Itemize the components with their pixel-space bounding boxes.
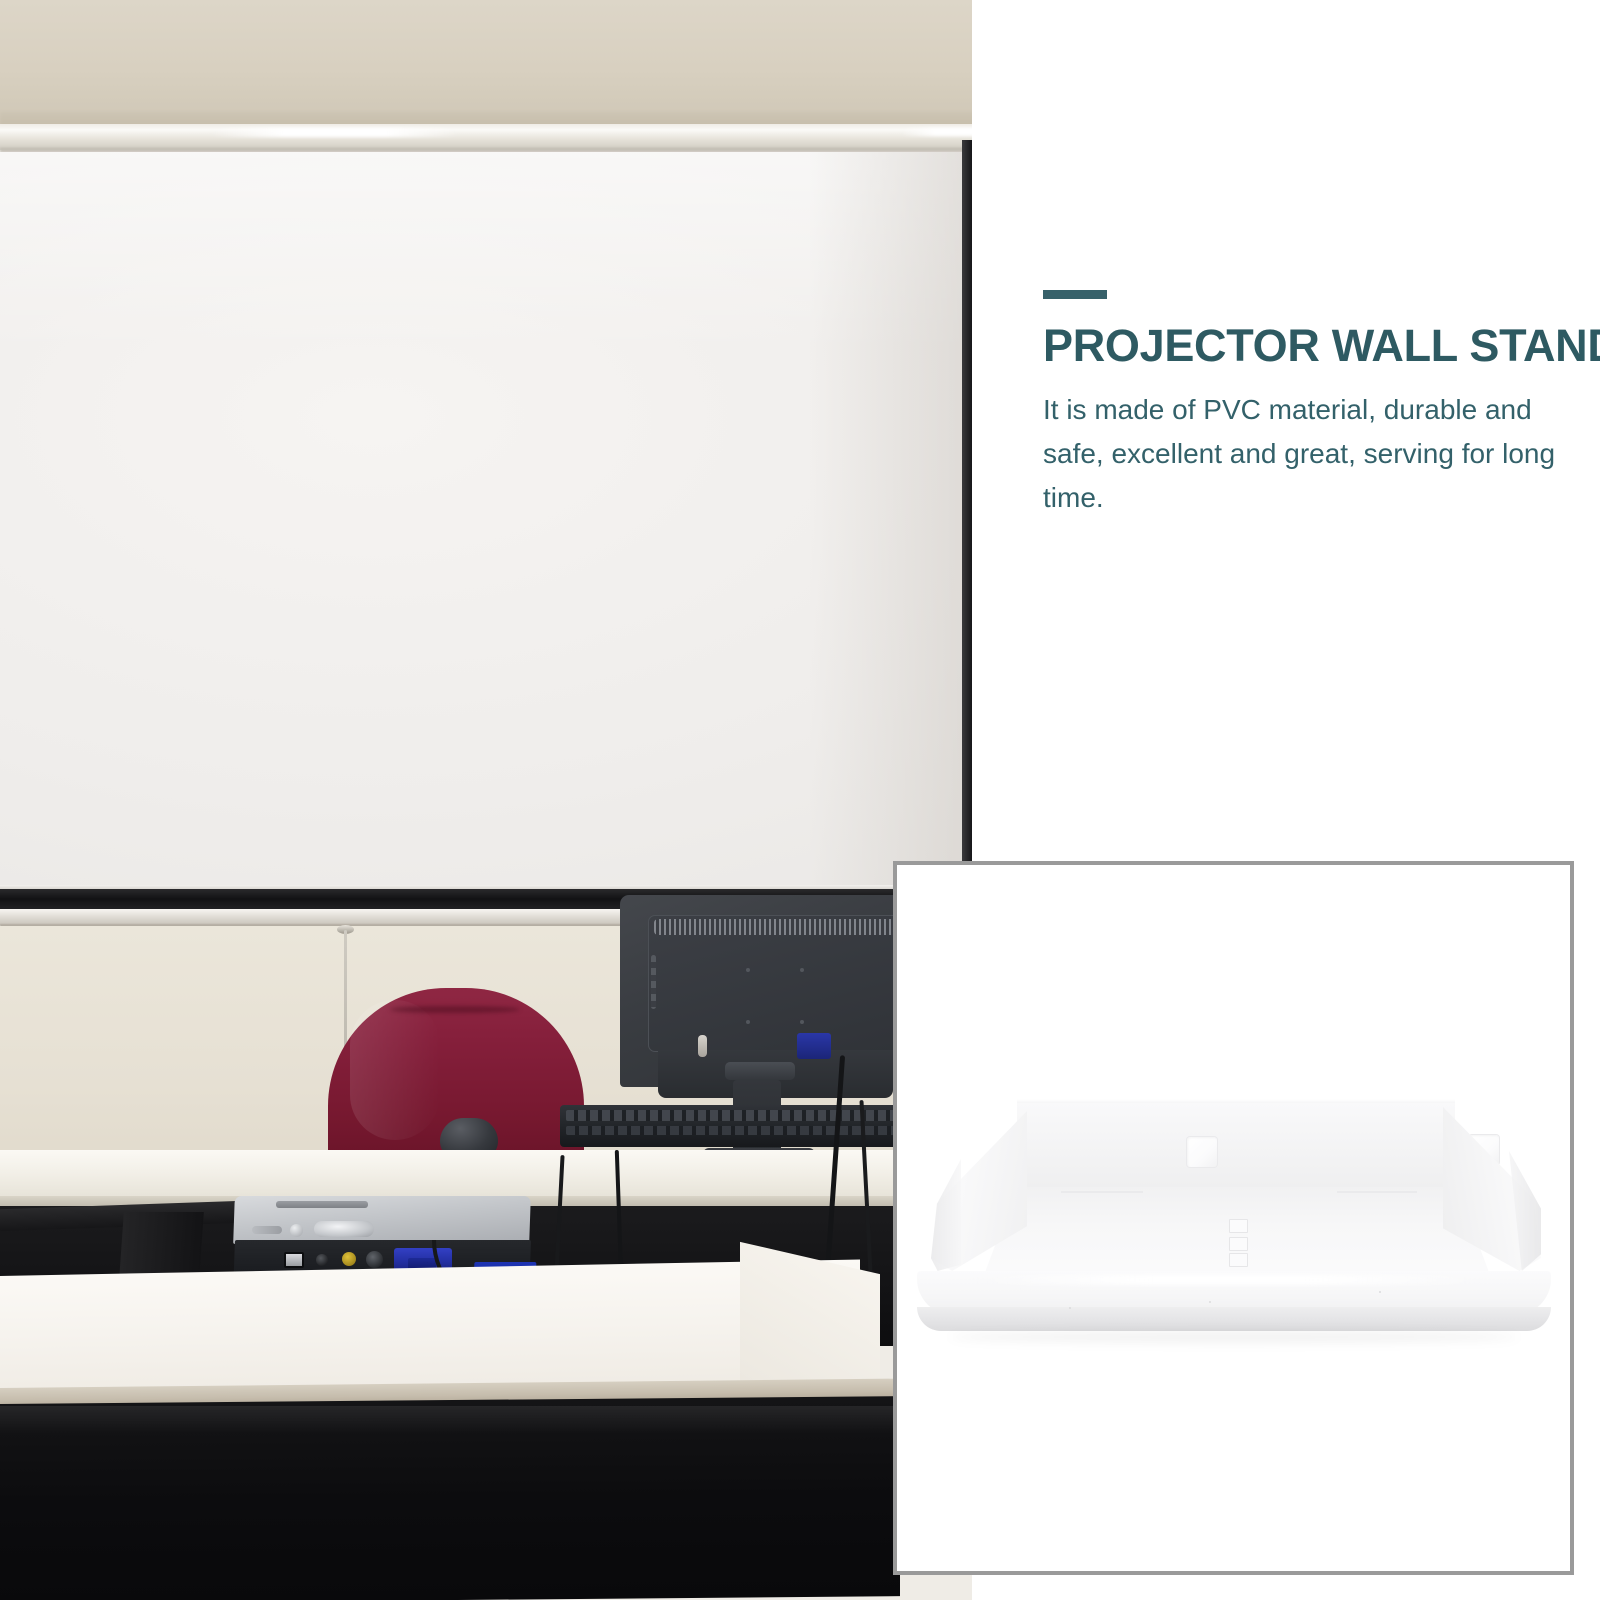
surface-fleck: [1069, 1307, 1071, 1309]
back-wall: [1017, 1103, 1455, 1195]
casing-highlight: [210, 128, 460, 137]
projector-indicator-lights: [252, 1226, 282, 1234]
surface-fleck: [1379, 1291, 1381, 1293]
floor-seam-right: [1337, 1191, 1417, 1193]
monitor-buttons: [651, 955, 656, 1009]
vesa-screw: [746, 1020, 750, 1024]
mounting-hole-left: [1187, 1137, 1217, 1167]
monitor-hinge: [725, 1062, 795, 1080]
product-image-panel: [893, 861, 1574, 1575]
surface-fleck: [1209, 1301, 1211, 1303]
chair-highlight: [350, 1000, 440, 1140]
base-contact-shadow: [949, 1331, 1519, 1343]
monitor-power-cable-plug: [698, 1035, 707, 1057]
monitor-vent: [654, 919, 898, 935]
chair-crease: [390, 1006, 520, 1013]
front-desk-surface: [0, 1259, 860, 1394]
cabinet-gloss: [0, 1406, 900, 1434]
projection-screen-casing: [0, 124, 979, 150]
left-side-wall-edge: [931, 1111, 961, 1271]
audio-jack-port: [316, 1254, 328, 1266]
vga-connector-blue: [797, 1033, 831, 1059]
base-highlight: [969, 1275, 1489, 1285]
accent-bar: [1043, 290, 1107, 299]
vesa-screw: [800, 1020, 804, 1024]
projector-wall-stand-product: [909, 1095, 1559, 1355]
usb-port: [284, 1252, 304, 1268]
vesa-screw: [746, 968, 750, 972]
page-title: PROJECTOR WALL STAND: [1043, 323, 1583, 370]
product-marketing-page: PROJECTOR WALL STAND It is made of PVC m…: [0, 0, 1600, 1600]
cable-slot: [1229, 1253, 1248, 1267]
copy-block: PROJECTOR WALL STAND It is made of PVC m…: [1043, 290, 1583, 521]
projector-focus-ring: [314, 1221, 374, 1237]
inner-floor: [981, 1187, 1493, 1283]
ceiling: [0, 0, 979, 126]
room-scene-photo: [0, 0, 979, 1600]
base-shelf-edge: [917, 1307, 1551, 1331]
projector-top-vent: [276, 1201, 368, 1208]
cable-slot: [1229, 1237, 1248, 1251]
cable-slot: [1229, 1219, 1248, 1233]
projector-knob: [290, 1224, 303, 1237]
vesa-screw: [800, 968, 804, 972]
product-photo: [897, 865, 1570, 1571]
product-description: It is made of PVC material, durable and …: [1043, 388, 1573, 521]
floor-seam-left: [1061, 1191, 1143, 1193]
casing-highlight-right: [900, 128, 979, 136]
screen-shading: [809, 152, 979, 908]
monitor-back-panel: [648, 915, 905, 1052]
